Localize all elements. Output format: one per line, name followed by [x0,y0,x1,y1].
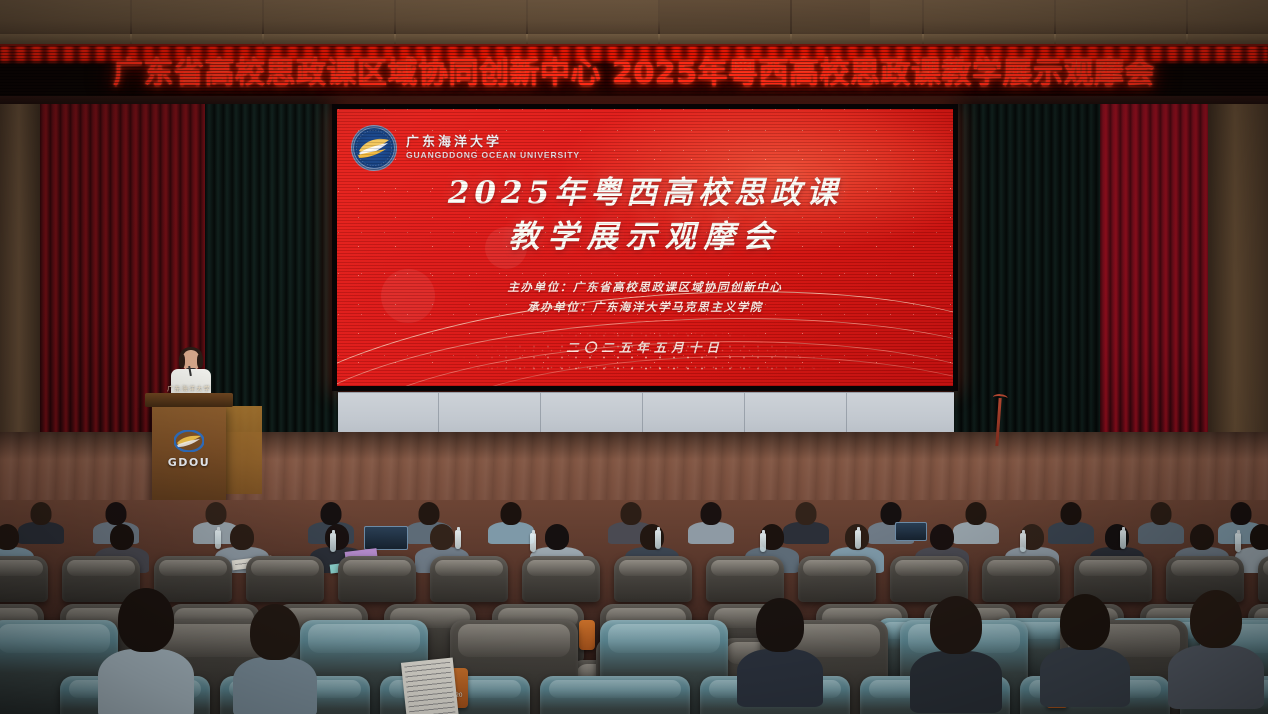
person-shoulders [783,522,829,544]
person-head [1060,594,1110,650]
person-head [930,524,954,550]
seat-headrest [895,560,964,576]
audience-seat [338,556,416,602]
audience-seat [430,556,508,602]
person-shoulders [910,651,1002,713]
audience-seat-foreground [540,676,690,714]
podium-top-surface: 广东海洋大学 [145,393,233,407]
audience-seat [982,556,1060,602]
person-shoulders [98,649,194,714]
handout-paper [401,657,459,714]
podium-abbreviation: GDOU [152,456,226,469]
wall-panel [528,0,658,44]
university-logo-text: 广东海洋大学 GUANGDDONG OCEAN UNIVERSITY [406,136,580,161]
person-head [110,524,134,550]
person-head [1250,524,1268,550]
seat-headrest [435,560,504,576]
seat-headrest [0,560,43,576]
led-banner: 广东省高校思政课区域协同创新中心 2025年粤西高校思政课教学展示观摩会 [0,44,1268,98]
laptop [364,526,408,550]
water-bottle [855,530,861,549]
seat-headrest [308,624,421,653]
water-bottle [1020,533,1026,552]
seat-headrest [159,560,228,576]
person-shoulders [1048,522,1094,544]
audience-seat [614,556,692,602]
university-logo: 广东海洋大学 GUANGDDONG OCEAN UNIVERSITY [351,125,580,171]
led-screen-bezel: 广东海洋大学 GUANGDDONG OCEAN UNIVERSITY 2025年… [332,104,958,391]
seat-headrest [343,560,412,576]
audience-seat [798,556,876,602]
person-shoulders [1040,647,1130,707]
water-bottle [1120,530,1126,549]
seat-headrest [1171,560,1240,576]
person-head [205,502,226,525]
water-bottle [530,533,536,552]
person-head [500,502,521,525]
person-head [230,524,254,550]
person-head [930,596,982,654]
person-head [1190,524,1214,550]
seat-headrest [458,624,571,657]
person-shoulders [488,522,534,544]
person-head [30,502,51,525]
podium-institution-label: 广东海洋大学 [145,384,233,393]
audience-seat [522,556,600,602]
seat-headrest [0,624,110,653]
university-name-en: GUANGDDONG OCEAN UNIVERSITY [406,151,580,160]
person-shoulders [18,522,64,544]
wall-panel [924,0,1054,44]
person-head [965,502,986,525]
person-head [325,524,349,550]
audience-member [30,502,51,547]
person-head [320,502,341,525]
person-head [0,524,19,550]
podium: 广东海洋大学 GDOU [152,404,226,504]
led-banner-text: 广东省高校思政课区域协同创新中心 2025年粤西高校思政课教学展示观摩会 [0,48,1268,92]
person-shoulders [1138,522,1184,544]
audience-seat [1258,556,1268,602]
person-shoulders [953,522,999,544]
laptop [895,522,927,541]
audience-member [930,596,982,714]
audience-member [795,502,816,547]
seat-headrest [1263,560,1268,576]
seat-headrest [711,560,780,576]
audience-member [965,502,986,547]
audience-member [1060,594,1110,710]
audience-seat [246,556,324,602]
seat-headrest [803,560,872,576]
seat-headrest [527,560,596,576]
water-bottle [655,530,661,549]
speaker-hair-side [197,354,203,368]
wall-panel [660,0,790,44]
person-head [795,502,816,525]
person-shoulders [233,657,317,714]
water-bottle [1235,533,1241,552]
wall-panel [264,0,394,44]
person-shoulders [688,522,734,544]
person-head [1150,502,1171,525]
audience-member [500,502,521,547]
audience-member [620,502,641,547]
audience-member [700,502,721,547]
wall-panel [132,0,262,44]
screen-title: 2025年粤西高校思政课 教学展示观摩会 [337,171,953,259]
audience-member [1190,590,1242,712]
person-head [756,598,804,652]
wall-panel [396,0,526,44]
seat-headrest [619,560,688,576]
person-head [105,502,126,525]
screen-title-line1: 2025年粤西高校思政课 [337,171,953,215]
wall-panel [0,0,130,44]
person-head [1190,590,1242,648]
person-head [545,524,569,550]
water-bottle [455,530,461,549]
person-head [430,524,454,550]
audience-member [1150,502,1171,547]
audience-member [1060,502,1081,547]
person-head [620,502,641,525]
audience-member [250,604,300,714]
screen-sparkle-field [457,308,877,378]
seat-headrest [549,680,681,698]
university-name-cn: 广东海洋大学 [406,136,580,150]
person-shoulders [737,649,823,707]
audience-member [756,598,804,710]
seat-headrest [608,624,721,653]
speaker-hair-side [179,354,185,368]
seat-headrest [251,560,320,576]
seat-headrest [1079,560,1148,576]
auditorium-photo: 广东省高校思政课区域协同创新中心 2025年粤西高校思政课教学展示观摩会 [0,0,1268,714]
audience-seat [706,556,784,602]
water-bottle [215,530,221,549]
audience-area: 618620618618620 [0,500,1268,714]
water-bottle [330,533,336,552]
seat-headrest [987,560,1056,576]
podium-side-table [222,406,262,494]
wall-panel [792,0,922,44]
person-shoulders [1168,645,1264,709]
person-head [250,604,300,660]
water-bottle [760,533,766,552]
seat-armrest [579,620,595,650]
person-head [118,588,174,652]
led-screen: 广东海洋大学 GUANGDDONG OCEAN UNIVERSITY 2025年… [337,109,953,386]
person-head [700,502,721,525]
person-head [1060,502,1081,525]
person-head [1230,502,1251,525]
audience-seat [0,556,48,602]
gdou-emblem-icon [351,125,397,171]
gdou-swoosh-icon [174,430,204,452]
audience-member [118,588,174,714]
wall-panel [1056,0,1186,44]
person-head [418,502,439,525]
wall-panel [1188,0,1268,44]
screen-title-line2: 教学展示观摩会 [337,215,953,259]
seat-headrest [67,560,136,576]
